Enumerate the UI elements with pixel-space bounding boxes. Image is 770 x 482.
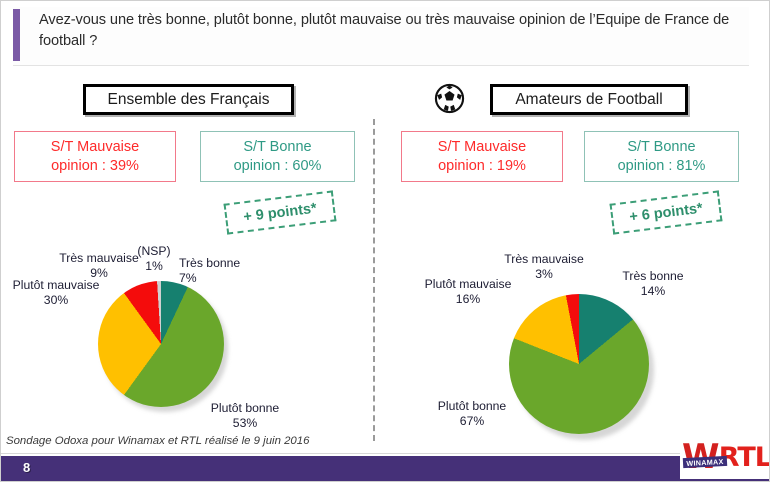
subtotal-good-left-value: opinion : 60%	[234, 157, 322, 176]
subtotal-good-left: S/T Bonne opinion : 60%	[200, 131, 355, 182]
pie-left-label-nsp: (NSP) 1%	[130, 244, 178, 274]
panel-title-left: Ensemble des Français	[83, 84, 294, 115]
evolution-tag-right: + 6 points*	[610, 190, 723, 234]
pie-left-label-tres-bonne: Très bonne 7%	[179, 256, 269, 286]
pie-left-label-plutot-bonne: Plutôt bonne 53%	[190, 401, 300, 431]
panel-divider	[373, 119, 375, 441]
soccer-ball-icon	[434, 83, 465, 114]
pie-right-label-tres-bonne: Très bonne 14%	[608, 269, 698, 299]
subtotal-bad-left-value: opinion : 39%	[51, 157, 139, 176]
panel-title-left-label: Ensemble des Français	[108, 91, 270, 109]
panel-title-right: Amateurs de Football	[490, 84, 688, 115]
pie-right-label-plutot-bonne: Plutôt bonne 67%	[416, 399, 528, 429]
bottom-bar	[1, 456, 770, 482]
subtotal-bad-right-value: opinion : 19%	[438, 157, 526, 176]
panel-title-right-label: Amateurs de Football	[515, 91, 662, 109]
question-accent-bar	[13, 9, 20, 61]
subtotal-good-right: S/T Bonne opinion : 81%	[584, 131, 739, 182]
evolution-tag-left: + 9 points*	[224, 190, 337, 234]
pie-right-disc	[509, 294, 649, 434]
subtotal-bad-left: S/T Mauvaise opinion : 39%	[14, 131, 176, 182]
subtotal-good-right-value: opinion : 81%	[618, 157, 706, 176]
subtotal-good-left-label: S/T Bonne	[243, 138, 311, 157]
subtotal-bad-right-label: S/T Mauvaise	[438, 138, 526, 157]
subtotal-bad-left-label: S/T Mauvaise	[51, 138, 139, 157]
logo-block: W WINAMAX RTL	[680, 435, 770, 479]
pie-left-label-plutot-mauvaise: Plutôt mauvaise 30%	[6, 278, 106, 308]
question-text: Avez-vous une très bonne, plutôt bonne, …	[39, 10, 739, 52]
footer-rule	[1, 453, 770, 454]
pie-right-label-plutot-mauvaise: Plutôt mauvaise 16%	[409, 277, 527, 307]
question-area: Avez-vous une très bonne, plutôt bonne, …	[13, 7, 749, 66]
winamax-logo: W WINAMAX	[682, 438, 716, 476]
subtotal-bad-right: S/T Mauvaise opinion : 19%	[401, 131, 563, 182]
source-note: Sondage Odoxa pour Winamax et RTL réalis…	[6, 435, 309, 447]
subtotal-good-right-label: S/T Bonne	[627, 138, 695, 157]
page-number: 8	[23, 460, 30, 475]
pie-left-disc	[98, 281, 224, 407]
slide-root: Avez-vous une très bonne, plutôt bonne, …	[0, 0, 770, 482]
